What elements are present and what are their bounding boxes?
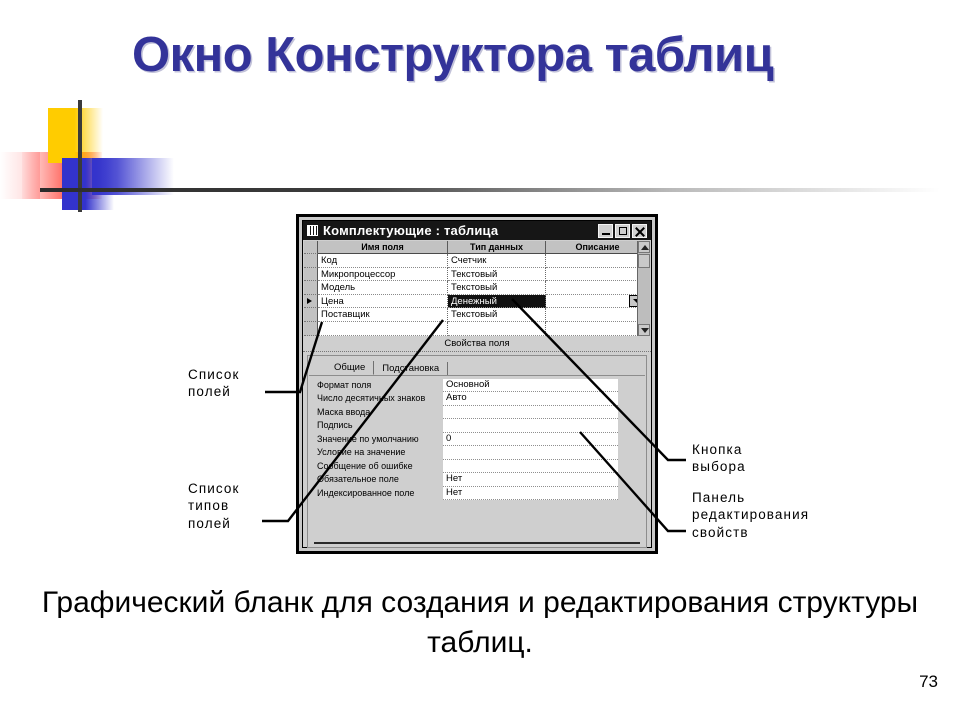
data-type-cell[interactable]: Текстовый bbox=[448, 268, 546, 282]
property-row[interactable]: Обязательное поле Нет bbox=[308, 473, 646, 487]
property-label: Формат поля bbox=[308, 379, 443, 393]
property-row[interactable]: Маска ввода bbox=[308, 406, 646, 420]
description-cell[interactable] bbox=[546, 308, 650, 322]
annotation-field-list: Список полей bbox=[188, 366, 240, 401]
property-value[interactable]: Нет bbox=[443, 487, 618, 501]
field-name-cell[interactable]: Поставщик bbox=[318, 308, 448, 322]
row-selector[interactable] bbox=[304, 254, 318, 268]
maximize-icon[interactable] bbox=[615, 224, 630, 238]
page-title: Окно Конструктора таблиц bbox=[132, 28, 832, 83]
motif-yellow-square bbox=[48, 108, 103, 163]
property-label: Условие на значение bbox=[308, 446, 443, 460]
table-row[interactable]: Поставщик Текстовый bbox=[304, 308, 650, 322]
property-value[interactable] bbox=[443, 446, 618, 460]
title-underline-rule bbox=[40, 188, 940, 192]
table-row[interactable]: Модель Текстовый bbox=[304, 281, 650, 295]
slide-canvas: Окно Конструктора таблиц Комплектующие :… bbox=[0, 0, 960, 720]
properties-tabs: Общие Подстановка bbox=[308, 360, 646, 375]
field-properties-title: Свойства поля bbox=[303, 336, 651, 352]
column-header-field-name[interactable]: Имя поля bbox=[318, 241, 448, 254]
field-properties-panel[interactable]: Общие Подстановка Формат поля Основной Ч… bbox=[307, 355, 647, 548]
property-label: Значение по умолчанию bbox=[308, 433, 443, 447]
tab-lookup[interactable]: Подстановка bbox=[374, 362, 448, 375]
property-label: Маска ввода bbox=[308, 406, 443, 420]
window-titlebar[interactable]: Комплектующие : таблица bbox=[303, 221, 651, 240]
row-selector-current[interactable] bbox=[304, 295, 318, 309]
field-grid[interactable]: Имя поля Тип данных Описание Код Счетчик… bbox=[303, 240, 651, 336]
description-cell[interactable] bbox=[546, 254, 650, 268]
table-row[interactable]: Микропроцессор Текстовый bbox=[304, 268, 650, 282]
table-row-empty[interactable] bbox=[304, 322, 650, 336]
annotation-choice-button: Кнопка выбора bbox=[692, 441, 746, 476]
row-selector[interactable] bbox=[304, 268, 318, 282]
tab-general[interactable]: Общие bbox=[326, 361, 374, 375]
panel-bottom-rule bbox=[314, 542, 640, 544]
grid-vertical-scrollbar[interactable] bbox=[637, 241, 650, 336]
property-value[interactable]: 0 bbox=[443, 433, 618, 447]
table-row[interactable]: Код Счетчик bbox=[304, 254, 650, 268]
data-type-value: Денежный bbox=[451, 296, 497, 307]
property-value[interactable]: Авто bbox=[443, 392, 618, 406]
annotation-type-list: Список типов полей bbox=[188, 480, 240, 532]
scroll-down-icon[interactable] bbox=[638, 324, 650, 336]
scroll-up-icon[interactable] bbox=[638, 241, 650, 253]
field-name-cell[interactable] bbox=[318, 322, 448, 336]
property-row[interactable]: Индексированное поле Нет bbox=[308, 487, 646, 501]
tabs-divider bbox=[309, 375, 645, 376]
property-row[interactable]: Число десятичных знаков Авто bbox=[308, 392, 646, 406]
window-inner-frame: Комплектующие : таблица Имя поля Тип дан… bbox=[302, 220, 652, 548]
scrollbar-bottom bbox=[638, 324, 650, 336]
description-cell[interactable] bbox=[546, 281, 650, 295]
property-row[interactable]: Условие на значение bbox=[308, 446, 646, 460]
motif-blue-square bbox=[62, 158, 114, 210]
property-row[interactable]: Формат поля Основной bbox=[308, 379, 646, 393]
column-header-description[interactable]: Описание bbox=[546, 241, 650, 254]
property-row[interactable]: Значение по умолчанию 0 bbox=[308, 433, 646, 447]
scrollbar-thumb[interactable] bbox=[638, 254, 650, 268]
annotation-props-panel: Панель редактирования свойств bbox=[692, 489, 809, 541]
description-cell[interactable] bbox=[546, 322, 650, 336]
description-cell[interactable] bbox=[546, 268, 650, 282]
property-value[interactable]: Основной bbox=[443, 379, 618, 393]
field-name-cell[interactable]: Модель bbox=[318, 281, 448, 295]
row-selector[interactable] bbox=[304, 281, 318, 295]
property-label: Подпись bbox=[308, 419, 443, 433]
data-type-cell[interactable]: Текстовый bbox=[448, 281, 546, 295]
minimize-icon[interactable] bbox=[598, 224, 613, 238]
row-selector[interactable] bbox=[304, 322, 318, 336]
property-value[interactable] bbox=[443, 406, 618, 420]
window-buttons bbox=[598, 224, 649, 238]
data-type-cell[interactable]: Счетчик bbox=[448, 254, 546, 268]
row-selector-header bbox=[304, 241, 318, 254]
close-icon[interactable] bbox=[632, 224, 647, 238]
field-name-cell[interactable]: Цена bbox=[318, 295, 448, 309]
data-type-cell-selected[interactable]: Денежный bbox=[448, 295, 546, 309]
access-table-designer-window: Комплектующие : таблица Имя поля Тип дан… bbox=[296, 214, 658, 554]
field-name-cell[interactable]: Код bbox=[318, 254, 448, 268]
window-title: Комплектующие : таблица bbox=[323, 223, 498, 238]
property-label: Сообщение об ошибке bbox=[308, 460, 443, 474]
description-cell[interactable] bbox=[546, 295, 650, 309]
property-label: Число десятичных знаков bbox=[308, 392, 443, 406]
property-row[interactable]: Подпись bbox=[308, 419, 646, 433]
slide-caption: Графический бланк для создания и редакти… bbox=[40, 583, 920, 663]
data-type-cell[interactable] bbox=[448, 322, 546, 336]
page-number: 73 bbox=[919, 672, 938, 692]
field-name-cell[interactable]: Микропроцессор bbox=[318, 268, 448, 282]
table-row-current[interactable]: Цена Денежный bbox=[304, 295, 650, 309]
table-icon bbox=[307, 225, 318, 236]
motif-vertical-line bbox=[78, 100, 82, 212]
data-type-cell[interactable]: Текстовый bbox=[448, 308, 546, 322]
property-value[interactable]: Нет bbox=[443, 473, 618, 487]
property-value[interactable] bbox=[443, 419, 618, 433]
property-row[interactable]: Сообщение об ошибке bbox=[308, 460, 646, 474]
property-label: Обязательное поле bbox=[308, 473, 443, 487]
property-value[interactable] bbox=[443, 460, 618, 474]
grid-header-row: Имя поля Тип данных Описание bbox=[304, 241, 650, 254]
row-selector[interactable] bbox=[304, 308, 318, 322]
column-header-data-type[interactable]: Тип данных bbox=[448, 241, 546, 254]
property-label: Индексированное поле bbox=[308, 487, 443, 501]
